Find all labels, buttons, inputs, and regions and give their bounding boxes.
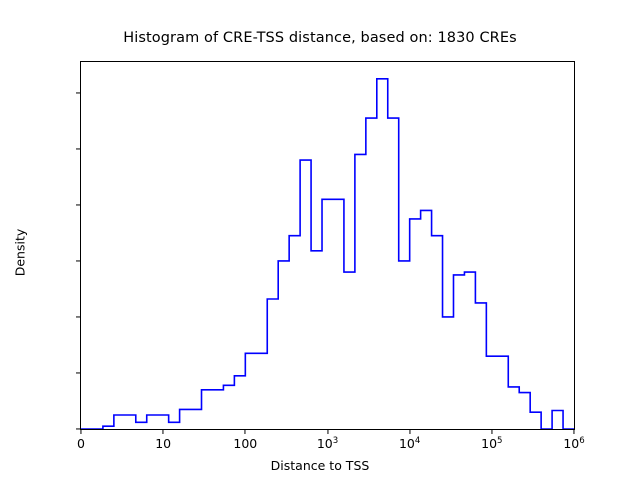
chart-title: Histogram of CRE-TSS distance, based on:… [0,30,640,46]
x-tick-label: 10 [155,436,171,451]
x-tick-label: 106 [563,436,584,451]
matplotlib-figure: Histogram of CRE-TSS distance, based on:… [0,0,640,480]
x-tick-mark [573,430,574,434]
x-axis-label: Distance to TSS [0,458,640,473]
x-tick-label: 105 [481,436,502,451]
x-tick-mark [245,430,246,434]
x-tick-mark [163,430,164,434]
x-tick-label: 0 [77,436,85,451]
histogram-step-plot [81,62,574,429]
x-tick-label: 104 [399,436,420,451]
y-axis-label: Density [13,163,28,343]
plot-area [80,61,575,430]
histogram-outline [81,79,574,429]
x-tick-mark [327,430,328,434]
x-tick-label: 103 [317,436,338,451]
x-tick-mark [80,430,81,434]
x-tick-mark [491,430,492,434]
x-tick-label: 100 [233,436,257,451]
x-tick-mark [409,430,410,434]
